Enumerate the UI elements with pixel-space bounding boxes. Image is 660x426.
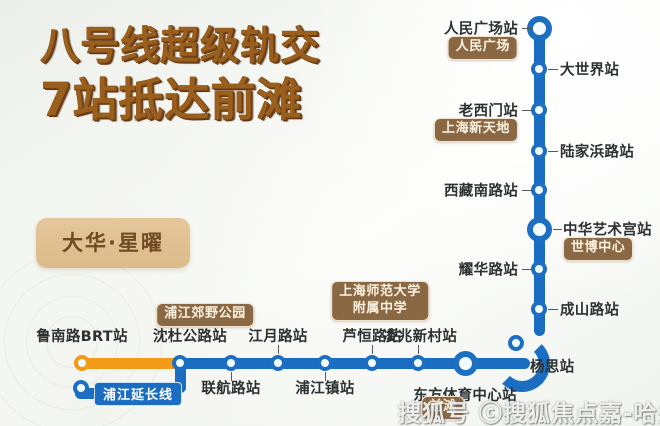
station-dot-dashijie[interactable]: [531, 61, 547, 77]
track-orange-segment: [80, 358, 182, 369]
station-label-jiangyue-lu: 江月路站: [248, 325, 307, 346]
leader-tick: [418, 345, 419, 354]
station-label-yangsi: 杨思站: [530, 356, 574, 377]
station-dot-branch-terminus[interactable]: [73, 380, 89, 396]
leader-tick: [372, 345, 373, 354]
branch-line-tag: 浦江延长线: [94, 382, 182, 406]
station-dot-dongfang-tiyu-zhongxin[interactable]: [453, 351, 478, 376]
poi-badge-pujiang-jiaoye-gongyuan: 浦江郊野公园: [156, 303, 254, 327]
station-dot-yangsi[interactable]: [508, 335, 524, 351]
station-dot-lujiabang-lu[interactable]: [531, 143, 547, 159]
station-label-chengshan-lu: 成山路站: [560, 299, 619, 320]
poi-badge-shanghai-xintiandi: 上海新天地: [434, 118, 518, 142]
station-label-lianhang-lu: 联航路站: [201, 377, 260, 398]
station-dot-jiangyue-lu[interactable]: [270, 355, 286, 371]
station-dot-zhonghua-yishugong[interactable]: [527, 217, 552, 242]
watermark: 搜狐号 ⓒ搜狐焦点嘉-哈关站: [398, 394, 660, 426]
station-label-xizang-nan-lu: 西藏南路站: [444, 180, 518, 201]
page-title: 八号线超级轨交 7站抵达前滩: [40, 22, 320, 128]
leader-tick: [553, 229, 562, 230]
station-dot-lingzhao-xincun[interactable]: [410, 355, 426, 371]
poi-badge-shanghai-shifan-daxue: 上海师范大学 附属中学: [331, 281, 429, 321]
station-label-luheng-lu: 芦恒路站: [342, 325, 401, 346]
station-dot-xizang-nan-lu[interactable]: [531, 182, 547, 198]
station-dot-shendu-gonglu[interactable]: [172, 355, 188, 371]
station-dot-lianhang-lu[interactable]: [223, 355, 239, 371]
leader-tick: [522, 110, 532, 111]
station-dot-chengshan-lu[interactable]: [531, 301, 547, 317]
station-label-shendu-gonglu: 沈杜公路站: [153, 325, 227, 346]
leader-tick: [548, 151, 558, 152]
metro-line-infographic: 八号线超级轨交 7站抵达前滩 大华·星曜 人民广场站 大世界站: [0, 0, 660, 426]
station-label-yaohua-lu: 耀华路站: [459, 259, 518, 280]
station-label-pujiang-zhen: 浦江镇站: [295, 377, 354, 398]
station-dot-pujiang-zhen[interactable]: [317, 355, 333, 371]
station-dot-luheng-lu[interactable]: [364, 355, 380, 371]
station-label-dashijie: 大世界站: [560, 59, 619, 80]
station-dot-yaohua-lu[interactable]: [531, 261, 547, 277]
leader-tick: [548, 309, 558, 310]
brand-badge: 大华·星曜: [36, 218, 190, 268]
station-label-lujiabang-lu: 陆家浜路站: [560, 141, 634, 162]
leader-tick: [278, 345, 279, 354]
station-dot-laoximen[interactable]: [531, 102, 547, 118]
station-dot-lunan-lu-brt[interactable]: [74, 355, 90, 371]
poi-badge-renmin-guangchang: 人民广场: [448, 36, 518, 60]
poi-badge-shibo-zhongxin: 世博中心: [563, 237, 633, 261]
leader-tick: [522, 269, 532, 270]
headline-line-1: 八号线超级轨交: [40, 22, 320, 72]
leader-tick: [548, 69, 558, 70]
station-label-lunan-lu-brt: 鲁南路BRT站: [36, 325, 128, 346]
leader-tick: [522, 190, 532, 191]
headline-line-2: 7站抵达前滩: [40, 72, 320, 128]
leader-tick: [522, 28, 532, 29]
